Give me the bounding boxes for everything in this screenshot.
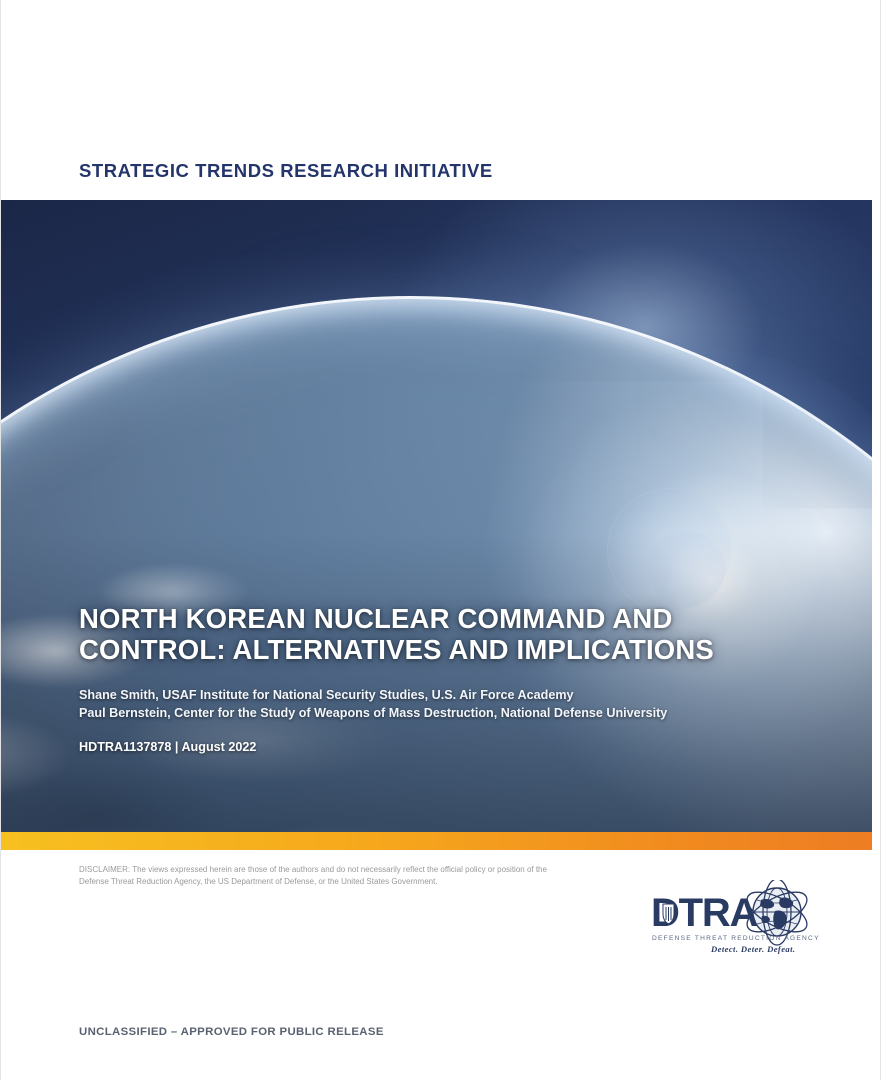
accent-bar (1, 832, 872, 850)
page-title-line-2: CONTROL: ALTERNATIVES AND IMPLICATIONS (79, 634, 714, 665)
page-title-line-1: NORTH KOREAN NUCLEAR COMMAND AND (79, 603, 673, 634)
shield-icon (663, 904, 674, 924)
page-title: NORTH KOREAN NUCLEAR COMMAND AND CONTROL… (79, 603, 779, 665)
logo-tagline: Detect. Deter. Defeat. (710, 944, 795, 954)
dtra-wordmark: DTRA (651, 891, 758, 935)
author-list: Shane Smith, USAF Institute for National… (79, 687, 779, 722)
cover-page: STRATEGIC TRENDS RESEARCH INITIATIVE NOR… (0, 0, 881, 1080)
classification-banner: UNCLASSIFIED – APPROVED FOR PUBLIC RELEA… (79, 1026, 384, 1038)
dtra-logo: DTRA DEFENSE THREAT REDUCTION AGENCY Det… (649, 880, 819, 966)
author-line-2: Paul Bernstein, Center for the Study of … (79, 705, 779, 723)
hero-image: NORTH KOREAN NUCLEAR COMMAND AND CONTROL… (1, 200, 872, 832)
document-id: HDTRA1137878 | August 2022 (79, 740, 779, 754)
disclaimer-text: DISCLAIMER: The views expressed herein a… (79, 864, 549, 887)
agency-name: DEFENSE THREAT REDUCTION AGENCY (652, 935, 819, 942)
series-header: STRATEGIC TRENDS RESEARCH INITIATIVE (79, 160, 493, 182)
author-line-1: Shane Smith, USAF Institute for National… (79, 687, 779, 705)
cover-text-block: NORTH KOREAN NUCLEAR COMMAND AND CONTROL… (79, 603, 779, 754)
